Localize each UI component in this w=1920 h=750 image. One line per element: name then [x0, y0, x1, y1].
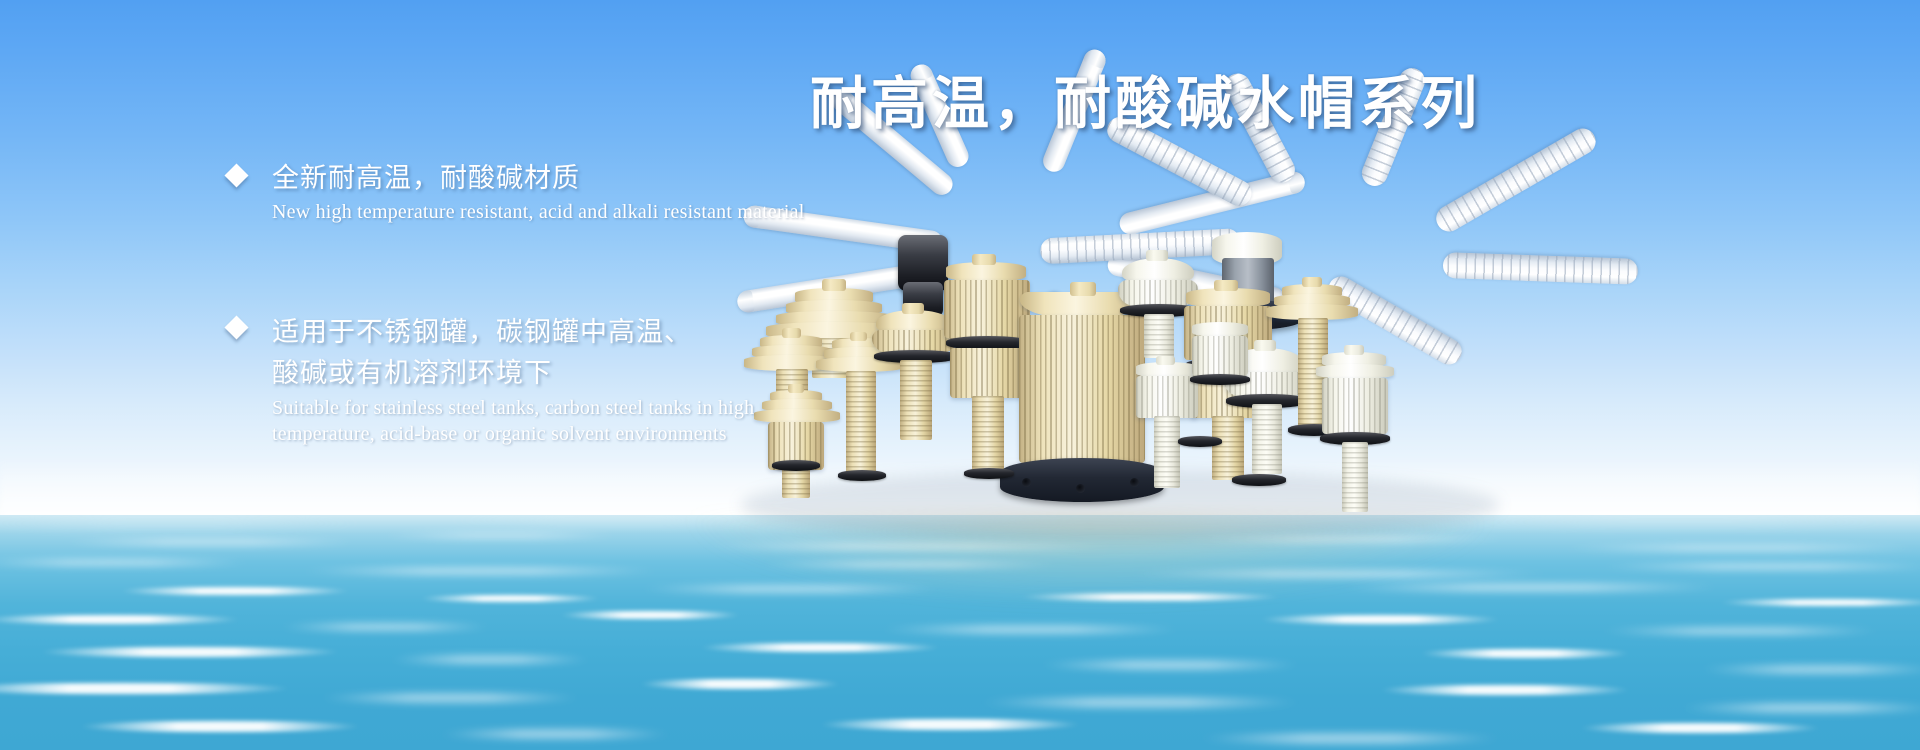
feature-list: 全新耐高温，耐酸碱材质 New high temperature resista…	[228, 160, 928, 534]
feature-1-en: New high temperature resistant, acid and…	[272, 200, 928, 224]
feature-2-en-line1: Suitable for stainless steel tanks, carb…	[272, 396, 928, 420]
diamond-bullet-icon	[224, 315, 248, 339]
banner-headline: 耐高温，耐酸碱水帽系列	[810, 58, 1550, 140]
feature-1-cn: 全新耐高温，耐酸碱材质	[272, 160, 928, 198]
product-banner: 耐高温，耐酸碱水帽系列 全新耐高温，耐酸碱材质 New high tempera…	[0, 0, 1920, 750]
diamond-bullet-icon	[224, 163, 248, 187]
feature-2-en-line2: temperature, acid-base or organic solven…	[272, 422, 928, 446]
feature-item-1: 全新耐高温，耐酸碱材质 New high temperature resista…	[228, 160, 928, 224]
feature-2-cn-line1: 适用于不锈钢罐，碳钢罐中高温、	[272, 312, 928, 353]
feature-item-2: 适用于不锈钢罐，碳钢罐中高温、 酸碱或有机溶剂环境下 Suitable for …	[228, 312, 928, 446]
feature-2-cn-line2: 酸碱或有机溶剂环境下	[272, 353, 928, 394]
